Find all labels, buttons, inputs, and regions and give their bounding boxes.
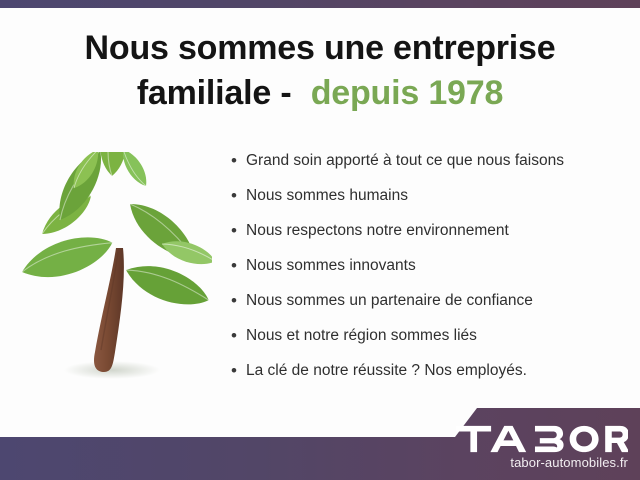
tabor-wordmark-icon <box>456 424 628 454</box>
logo-tagline: tabor-automobiles.fr <box>428 455 628 470</box>
headline-line-1: Nous sommes une entreprise <box>0 26 640 71</box>
list-item-label: Grand soin apporté à tout ce que nous fa… <box>246 148 564 173</box>
footer-band: tabor-automobiles.fr <box>0 402 640 480</box>
list-item: • Nous sommes humains <box>231 183 631 218</box>
list-item-label: Nous sommes humains <box>246 183 408 208</box>
list-item: • La clé de notre réussite ? Nos employé… <box>231 358 631 393</box>
leaf-top-center <box>99 152 127 176</box>
list-item: • Grand soin apporté à tout ce que nous … <box>231 148 631 183</box>
list-item-label: Nous sommes un partenaire de confiance <box>246 288 533 313</box>
bullet-marker: • <box>231 148 246 173</box>
bullet-marker: • <box>231 253 246 278</box>
list-item-label: Nous sommes innovants <box>246 253 416 278</box>
slide-canvas: Nous sommes une entreprise familiale - d… <box>0 0 640 480</box>
leaf-right-lower <box>121 255 212 314</box>
tree-illustration <box>12 152 212 390</box>
headline-accent-text: depuis 1978 <box>311 74 503 112</box>
headline-line-2: familiale - depuis 1978 <box>0 71 640 116</box>
top-accent-bar <box>0 0 640 8</box>
bullet-marker: • <box>231 323 246 348</box>
list-item-label: Nous respectons notre environnement <box>246 218 509 243</box>
bullet-marker: • <box>231 358 246 383</box>
bullet-marker: • <box>231 183 246 208</box>
list-item-label: La clé de notre réussite ? Nos employés. <box>246 358 527 383</box>
tree-trunk <box>94 248 124 372</box>
leaf-left-lower <box>17 227 118 288</box>
headline-line-2-text: familiale - <box>137 74 301 112</box>
benefits-list: • Grand soin apporté à tout ce que nous … <box>231 148 631 393</box>
list-item: • Nous et notre région sommes liés <box>231 323 631 358</box>
bullet-marker: • <box>231 218 246 243</box>
list-item: • Nous sommes innovants <box>231 253 631 288</box>
page-title: Nous sommes une entreprise familiale - d… <box>0 26 640 116</box>
tabor-logo[interactable]: tabor-automobiles.fr <box>428 424 628 470</box>
list-item-label: Nous et notre région sommes liés <box>246 323 477 348</box>
list-item: • Nous respectons notre environnement <box>231 218 631 253</box>
bullet-marker: • <box>231 288 246 313</box>
list-item: • Nous sommes un partenaire de confiance <box>231 288 631 323</box>
